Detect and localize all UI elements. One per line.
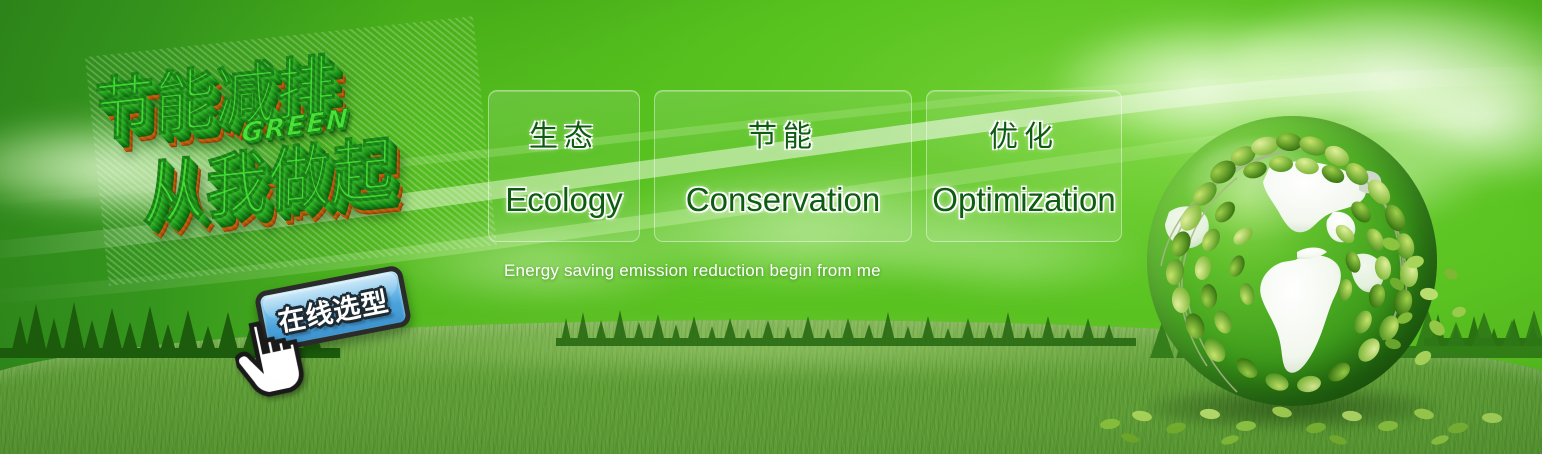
- feature-card-optimization[interactable]: 优化 Optimization: [926, 90, 1122, 242]
- feature-card-en-label: Conservation: [686, 181, 880, 219]
- feature-card-cn-label: 生态: [529, 113, 599, 155]
- feature-cards: 生态 Ecology 节能 Conservation 优化 Optimizati…: [488, 90, 1122, 242]
- feature-card-cn-label: 优化: [989, 113, 1059, 155]
- feature-card-en-label: Ecology: [505, 181, 622, 219]
- feature-card-en-label: Optimization: [932, 181, 1115, 219]
- banner-subtitle: Energy saving emission reduction begin f…: [504, 261, 881, 281]
- headline-3d-artwork: 节能减排 GREEN 从我做起: [85, 16, 497, 286]
- feature-card-conservation[interactable]: 节能 Conservation: [654, 90, 912, 242]
- ground-highlight: [258, 324, 1284, 372]
- feature-card-cn-label: 节能: [748, 113, 818, 155]
- falling-leaves-icon: [1375, 232, 1495, 392]
- eco-promo-banner: 节能减排 GREEN 从我做起 在线选型 生态 Ecology 节能 Conse…: [0, 0, 1542, 454]
- feature-card-ecology[interactable]: 生态 Ecology: [488, 90, 640, 242]
- leafy-globe-artwork: [1139, 112, 1447, 424]
